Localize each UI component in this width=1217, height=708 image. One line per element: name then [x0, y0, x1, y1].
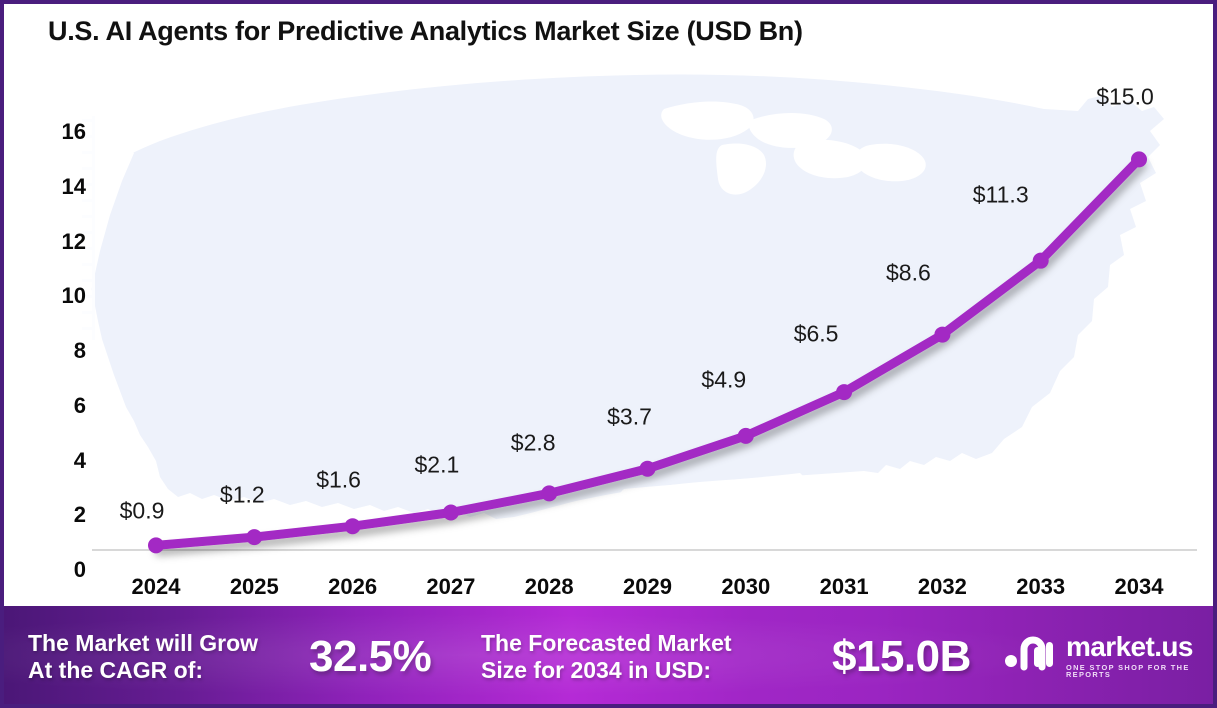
cagr-value: 32.5% — [309, 632, 431, 682]
market-us-logo-text: market.us ONE STOP SHOP FOR THE REPORTS — [1066, 633, 1213, 679]
x-axis-labels: 2024202520262027202820292030203120322033… — [4, 564, 1217, 609]
data-point-label: $3.7 — [607, 403, 652, 430]
data-point-marker[interactable] — [443, 505, 459, 521]
series-markers — [148, 151, 1147, 553]
infographic-frame: U.S. AI Agents for Predictive Analytics … — [0, 0, 1217, 708]
cagr-label-line1: The Market will Grow — [28, 630, 298, 657]
data-point-marker[interactable] — [836, 384, 852, 400]
data-point-marker[interactable] — [934, 327, 950, 343]
logo-name: market.us — [1066, 633, 1213, 661]
x-axis-tick-label: 2024 — [132, 574, 181, 600]
x-axis-tick-label: 2026 — [328, 574, 377, 600]
data-point-marker[interactable] — [1033, 253, 1049, 269]
chart-plot-area: 0246810121416 $0.9$1.2$1.6$2.1$2.8$3.7$4… — [4, 49, 1217, 609]
line-series — [4, 49, 1217, 569]
forecast-label: The Forecasted Market Size for 2034 in U… — [481, 630, 781, 683]
data-point-label: $4.9 — [701, 366, 746, 393]
x-axis-tick-label: 2034 — [1115, 574, 1164, 600]
data-point-marker[interactable] — [541, 485, 557, 501]
data-point-marker[interactable] — [148, 537, 164, 553]
logo-tagline: ONE STOP SHOP FOR THE REPORTS — [1066, 664, 1213, 679]
data-point-label: $8.6 — [886, 259, 931, 286]
data-point-marker[interactable] — [246, 529, 262, 545]
data-point-label: $0.9 — [120, 498, 165, 525]
data-point-marker[interactable] — [1131, 151, 1147, 167]
data-point-label: $11.3 — [973, 181, 1029, 208]
data-point-label: $2.8 — [511, 430, 556, 457]
forecast-label-line1: The Forecasted Market — [481, 630, 781, 657]
data-point-marker[interactable] — [738, 428, 754, 444]
x-axis-tick-label: 2031 — [820, 574, 869, 600]
data-point-label: $6.5 — [794, 321, 839, 348]
data-point-marker[interactable] — [640, 461, 656, 477]
data-point-label: $15.0 — [1096, 84, 1154, 111]
x-axis-tick-label: 2029 — [623, 574, 672, 600]
x-axis-tick-label: 2033 — [1016, 574, 1065, 600]
market-us-logo-icon — [1004, 633, 1058, 678]
data-point-label: $1.2 — [220, 482, 265, 509]
summary-banner: The Market will Grow At the CAGR of: 32.… — [4, 606, 1213, 704]
x-axis-tick-label: 2027 — [426, 574, 475, 600]
x-axis-tick-label: 2028 — [525, 574, 574, 600]
cagr-label: The Market will Grow At the CAGR of: — [28, 630, 298, 683]
page-title: U.S. AI Agents for Predictive Analytics … — [48, 16, 803, 47]
market-us-logo[interactable]: market.us ONE STOP SHOP FOR THE REPORTS — [1004, 633, 1213, 679]
series-line — [156, 159, 1139, 545]
forecast-value: $15.0B — [832, 632, 971, 682]
x-axis-tick-label: 2030 — [721, 574, 770, 600]
forecast-label-line2: Size for 2034 in USD: — [481, 657, 781, 684]
x-axis-tick-label: 2032 — [918, 574, 967, 600]
data-point-marker[interactable] — [345, 518, 361, 534]
cagr-label-line2: At the CAGR of: — [28, 657, 298, 684]
data-point-label: $1.6 — [316, 467, 361, 494]
data-point-label: $2.1 — [415, 451, 460, 478]
x-axis-tick-label: 2025 — [230, 574, 279, 600]
